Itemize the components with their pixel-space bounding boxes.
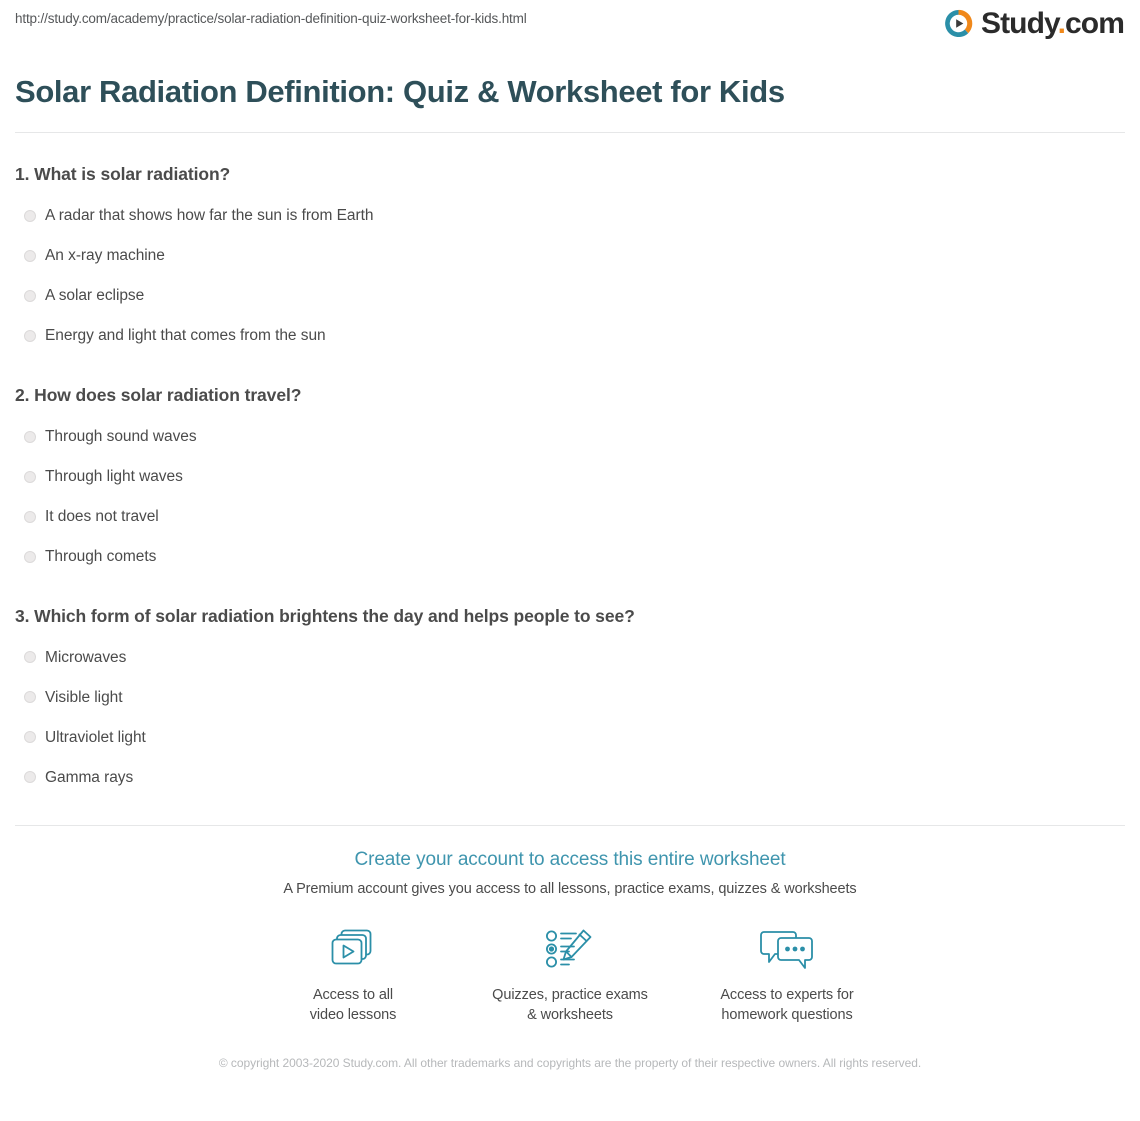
answer-option-label: Visible light — [45, 690, 122, 706]
answer-option-label: A solar eclipse — [45, 288, 144, 304]
answer-option[interactable]: Microwaves — [15, 637, 1125, 677]
answer-option[interactable]: Visible light — [15, 677, 1125, 717]
quiz-pencil-icon — [462, 923, 679, 975]
question-block: 3. Which form of solar radiation brighte… — [15, 605, 1125, 798]
page-title: Solar Radiation Definition: Quiz & Works… — [0, 73, 1140, 110]
feature-experts: Access to experts for homework questions — [679, 923, 896, 1025]
question-text: 3. Which form of solar radiation brighte… — [15, 605, 1125, 628]
feature-label: Access to all video lessons — [245, 985, 462, 1025]
answer-option-label: Through comets — [45, 549, 156, 565]
radio-button-icon[interactable] — [24, 290, 36, 302]
answer-option-label: Ultraviolet light — [45, 730, 146, 746]
radio-button-icon[interactable] — [24, 771, 36, 783]
question-text: 2. How does solar radiation travel? — [15, 384, 1125, 407]
radio-button-icon[interactable] — [24, 731, 36, 743]
radio-button-icon[interactable] — [24, 431, 36, 443]
feature-quizzes: Quizzes, practice exams & worksheets — [462, 923, 679, 1025]
answer-option[interactable]: Ultraviolet light — [15, 717, 1125, 757]
page-header: http://study.com/academy/practice/solar-… — [0, 0, 1140, 62]
page-url: http://study.com/academy/practice/solar-… — [15, 11, 527, 26]
create-account-link[interactable]: Create your account to access this entir… — [354, 849, 785, 872]
answer-option[interactable]: A radar that shows how far the sun is fr… — [15, 196, 1125, 236]
video-lessons-icon — [245, 923, 462, 975]
answer-option[interactable]: A solar eclipse — [15, 276, 1125, 316]
answer-option-label: It does not travel — [45, 509, 159, 525]
radio-button-icon[interactable] — [24, 210, 36, 222]
question-block: 2. How does solar radiation travel? Thro… — [15, 384, 1125, 577]
answer-option-label: Energy and light that comes from the sun — [45, 328, 326, 344]
radio-button-icon[interactable] — [24, 551, 36, 563]
question-text: 1. What is solar radiation? — [15, 163, 1125, 186]
answer-option[interactable]: Gamma rays — [15, 757, 1125, 797]
copyright-notice: © copyright 2003-2020 Study.com. All oth… — [215, 1055, 925, 1072]
brand-wordmark: Study.com — [981, 9, 1124, 39]
radio-button-icon[interactable] — [24, 691, 36, 703]
answer-option[interactable]: Through light waves — [15, 457, 1125, 497]
answer-option[interactable]: It does not travel — [15, 497, 1125, 537]
premium-features-list: Access to all video lessons — [0, 923, 1140, 1025]
answer-option[interactable]: An x-ray machine — [15, 236, 1125, 276]
brand-dot: . — [1058, 7, 1065, 40]
answer-option[interactable]: Energy and light that comes from the sun — [15, 316, 1125, 356]
feature-label: Access to experts for homework questions — [679, 985, 896, 1025]
question-block: 1. What is solar radiation? A radar that… — [15, 163, 1125, 356]
radio-button-icon[interactable] — [24, 651, 36, 663]
quiz-questions-list: 1. What is solar radiation? A radar that… — [0, 163, 1140, 797]
answer-option-label: Through sound waves — [45, 429, 197, 445]
play-circle-icon — [943, 8, 974, 39]
feature-label: Quizzes, practice exams & worksheets — [462, 985, 679, 1025]
create-account-cta: Create your account to access this entir… — [0, 826, 1140, 1072]
radio-button-icon[interactable] — [24, 250, 36, 262]
brand-name: Study — [981, 7, 1058, 40]
answer-option-label: A radar that shows how far the sun is fr… — [45, 208, 373, 224]
radio-button-icon[interactable] — [24, 511, 36, 523]
chat-bubbles-icon — [679, 923, 896, 975]
answer-option-label: Through light waves — [45, 469, 183, 485]
cta-subheading: A Premium account gives you access to al… — [0, 881, 1140, 897]
title-divider — [15, 132, 1125, 133]
study-com-logo[interactable]: Study.com — [943, 8, 1124, 39]
answer-option[interactable]: Through sound waves — [15, 417, 1125, 457]
answer-option-label: Microwaves — [45, 650, 126, 666]
answer-option-label: Gamma rays — [45, 770, 133, 786]
radio-button-icon[interactable] — [24, 471, 36, 483]
brand-tld: com — [1065, 7, 1124, 40]
feature-video-lessons: Access to all video lessons — [245, 923, 462, 1025]
radio-button-icon[interactable] — [24, 330, 36, 342]
answer-option-label: An x-ray machine — [45, 248, 165, 264]
answer-option[interactable]: Through comets — [15, 537, 1125, 577]
